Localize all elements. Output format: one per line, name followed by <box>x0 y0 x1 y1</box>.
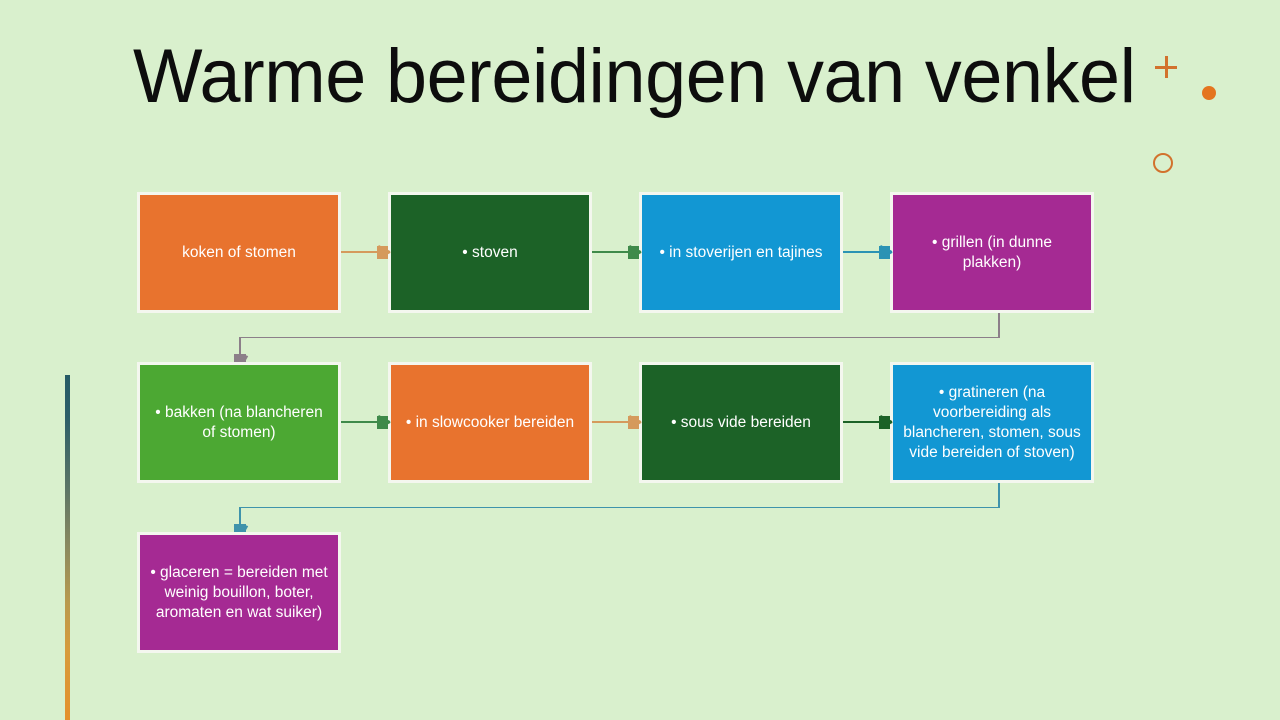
flow-box-glaceren[interactable]: • glaceren = bereiden met weinig bouillo… <box>137 532 341 653</box>
connector-segment-horizontal <box>239 507 1000 509</box>
flow-box-sous-vide-bereiden[interactable]: • sous vide bereiden <box>639 362 843 483</box>
dot-icon <box>1202 86 1216 100</box>
flow-box-label: koken of stomen <box>149 243 329 263</box>
flow-box-label: • grillen (in dunne plakken) <box>902 233 1082 273</box>
arrow-bakken-to-slowcooker-icon <box>341 415 388 429</box>
flow-box-gratineren[interactable]: • gratineren (na voorbereiding als blanc… <box>890 362 1094 483</box>
arrow-head <box>377 246 388 259</box>
flow-box-in-stoverijen-en-tajines[interactable]: • in stoverijen en tajines <box>639 192 843 313</box>
connector-grillen-to-bakken-icon <box>230 313 1000 365</box>
slide-canvas: Warme bereidingen van venkel koken of st… <box>0 0 1280 720</box>
arrow-shaft <box>341 421 381 423</box>
flow-box-label: • stoven <box>400 243 580 263</box>
flow-box-in-slowcooker-bereiden[interactable]: • in slowcooker bereiden <box>388 362 592 483</box>
arrow-shaft <box>843 421 883 423</box>
flow-box-koken-of-stomen[interactable]: koken of stomen <box>137 192 341 313</box>
connector-gratineren-to-glaceren-icon <box>230 483 1000 535</box>
plus-icon <box>1155 56 1177 78</box>
flow-box-label: • gratineren (na voorbereiding als blanc… <box>902 383 1082 463</box>
arrow-shaft <box>341 251 381 253</box>
arrow-slowcooker-to-sousvide-icon <box>592 415 639 429</box>
arrow-stoven-to-stoverijen-icon <box>592 245 639 259</box>
arrow-head <box>377 416 388 429</box>
left-accent-bar <box>65 375 70 720</box>
flow-box-grillen[interactable]: • grillen (in dunne plakken) <box>890 192 1094 313</box>
arrow-shaft <box>843 251 883 253</box>
flow-box-bakken[interactable]: • bakken (na blancheren of stomen) <box>137 362 341 483</box>
circle-outline-icon <box>1153 153 1173 173</box>
arrow-head <box>879 416 890 429</box>
flow-box-label: • sous vide bereiden <box>651 413 831 433</box>
flow-box-label: • in stoverijen en tajines <box>651 243 831 263</box>
flow-box-label: • glaceren = bereiden met weinig bouillo… <box>149 563 329 623</box>
arrow-shaft <box>592 251 632 253</box>
arrow-head <box>628 416 639 429</box>
page-title: Warme bereidingen van venkel <box>133 27 1064 127</box>
arrow-head <box>879 246 890 259</box>
flow-box-stoven[interactable]: • stoven <box>388 192 592 313</box>
connector-segment-vertical-right <box>998 483 1000 508</box>
arrow-stoverijen-to-grillen-icon <box>843 245 890 259</box>
flow-box-label: • bakken (na blancheren of stomen) <box>149 403 329 443</box>
arrow-koken-to-stoven-icon <box>341 245 388 259</box>
flow-box-label: • in slowcooker bereiden <box>400 413 580 433</box>
arrow-sousvide-to-gratineren-icon <box>843 415 890 429</box>
arrow-shaft <box>592 421 632 423</box>
connector-segment-vertical-right <box>998 313 1000 338</box>
arrow-head <box>628 246 639 259</box>
connector-segment-horizontal <box>239 337 1000 339</box>
